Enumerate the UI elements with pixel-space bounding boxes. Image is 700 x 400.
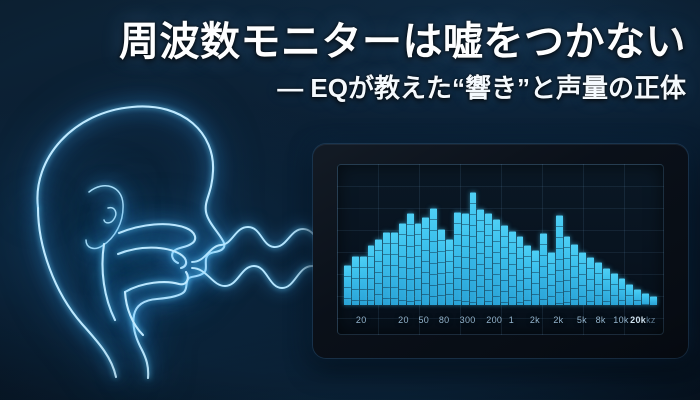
page-title: 周波数モニターは嘘をつかない [0,9,686,67]
spectrum-bar [462,213,469,305]
axis-tick-label: 10k [613,315,628,325]
ear-inner-path [104,208,116,223]
spectrum-bar [344,265,351,305]
frequency-axis: 2020508030020012k2k5k8k10k20kkz [344,309,657,331]
spectrum-bar [360,256,367,305]
head-outline-path [37,106,224,378]
spectrum-bar [579,252,586,305]
spectrum-bar [517,236,524,305]
spectrum-bar [603,268,610,305]
spectrum-bar [454,212,461,305]
analyzer-screen[interactable]: 2020508030020012k2k5k8k10k20kkz [337,164,664,335]
spectrum-bar [501,225,508,305]
spectrum-bar [509,231,516,305]
spectrum-bar [524,245,531,305]
spectrum-bar [571,244,578,305]
spectrum-bar [548,252,555,305]
lower-jaw-path [125,272,188,292]
spectrum-bar [446,239,453,306]
axis-tick-label: 5k [577,315,587,325]
spectrum-bar [391,232,398,305]
head-profile-svg [16,96,346,396]
spectrum-bar [438,229,445,305]
axis-tick-label: 300 [460,315,476,325]
spectrum-bar [619,278,626,305]
spectrum-bar [595,262,602,305]
axis-tick-label: 20 [356,315,367,325]
spectrum-bar [383,232,390,305]
axis-tick-label: 20 [398,315,409,325]
neon-head-profile [16,96,346,396]
spectrum-bar [352,256,359,305]
spectrum-bar [422,217,429,305]
axis-tick-label: 8k [596,315,606,325]
axis-tick-label: 200 [486,315,502,325]
spectrum-bar [611,273,618,305]
spectrum-bar [407,213,414,305]
spectrum-bar [430,208,437,305]
soundwave-path-1 [192,227,332,262]
page-subtitle: — EQが教えた“響き”と声量の正体 [0,68,686,105]
spectrum-bar [587,257,594,305]
spectrum-bar [477,209,484,305]
spectrum-bar [626,284,633,305]
axis-tick-label: 1 [509,315,514,325]
spectrum-bar [556,215,563,305]
spectrum-bar [368,245,375,305]
ear-outline-path [86,186,123,249]
spectrum-bar [532,250,539,305]
spectrum-bar [493,219,500,305]
spectrum-bar [415,223,422,305]
axis-tick-label: 20kkz [630,315,656,325]
spectrum-bar [540,233,547,305]
spectrum-bar [399,223,406,305]
spectrum-bar [650,296,657,305]
jaw-line-path [38,208,116,377]
tablet-device: 2020508030020012k2k5k8k10k20kkz [313,144,688,358]
spectrum-bar [470,192,477,305]
spectrum-bar [485,213,492,305]
axis-tick-label: 2k [530,315,540,325]
throat-path [102,244,115,320]
spectrum-bar [642,293,649,305]
axis-tick-label: 50 [419,315,430,325]
spectrum-bar [634,289,641,305]
poster-canvas: 2020508030020012k2k5k8k10k20kkz 周波数モニターは… [0,0,700,400]
spectrum-bars [344,172,657,305]
spectrum-bar [375,239,382,306]
axis-tick-label: 80 [439,315,450,325]
axis-tick-label: 2k [553,315,563,325]
spectrum-bar [564,236,571,305]
